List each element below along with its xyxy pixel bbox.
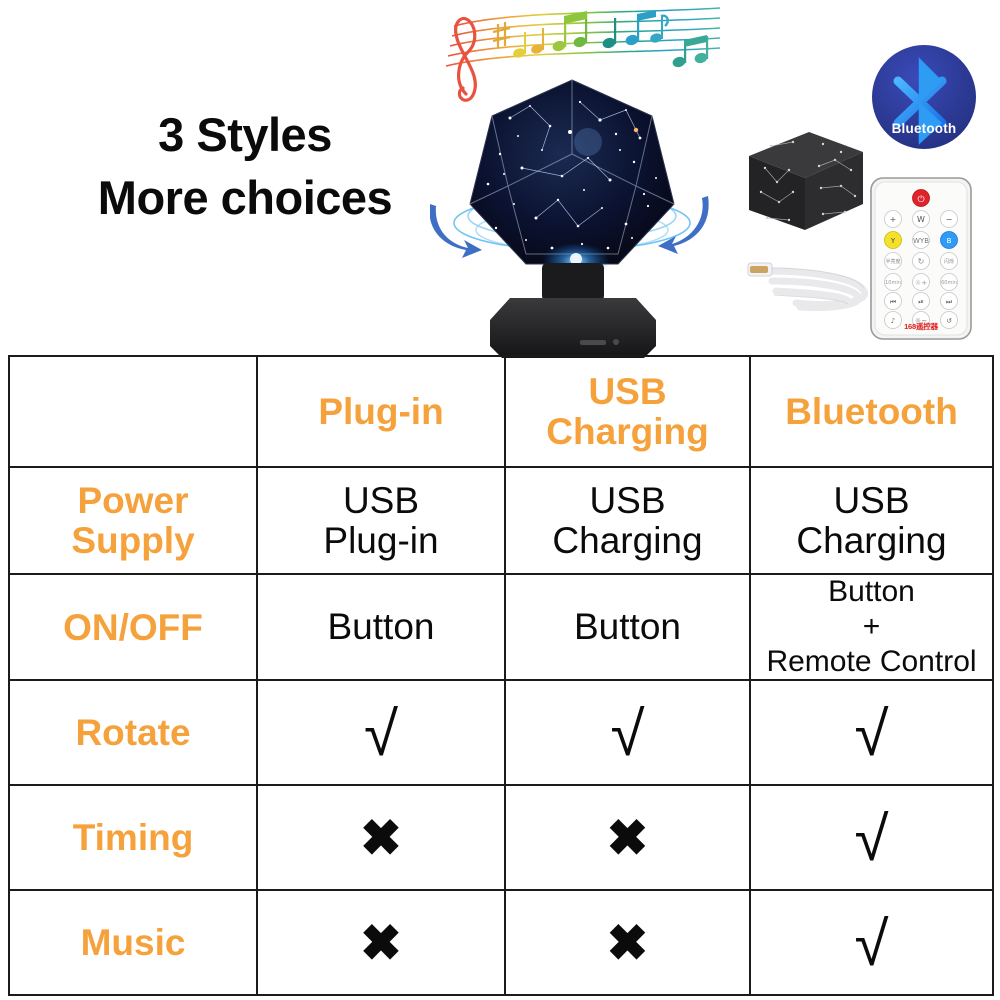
cell-timing-usb-charging: ✖	[505, 785, 750, 890]
page-title: 3 Styles More choices	[55, 104, 435, 229]
bluetooth-label: Bluetooth	[864, 121, 984, 136]
star-projector-lamp	[430, 58, 715, 358]
table-row-power-supply: Power Supply USB Plug-in USB Charging US…	[9, 467, 993, 574]
remote-model-label: 168遥控器	[867, 321, 975, 332]
svg-text:半亮度: 半亮度	[885, 258, 900, 265]
svg-text:⏯: ⏯	[918, 298, 924, 306]
svg-text:W: W	[917, 215, 925, 224]
row-label-rotate: Rotate	[9, 680, 257, 785]
cell-timing-plug-in: ✖	[257, 785, 505, 890]
svg-text:−: −	[946, 215, 953, 224]
cross-icon: ✖	[360, 918, 402, 968]
svg-text:⏻: ⏻	[917, 194, 924, 205]
header-cell-blank	[9, 356, 257, 467]
check-icon: √	[364, 704, 398, 766]
remote-control: ⏻ +W− Y WYB B 半亮度 ↻ 闪	[867, 176, 975, 341]
svg-text:⏮: ⏮	[890, 298, 896, 306]
svg-text:10min: 10min	[885, 280, 901, 286]
check-icon: √	[854, 704, 888, 766]
table-row-music: Music ✖ ✖ √	[9, 890, 993, 995]
bluetooth-icon	[864, 40, 984, 158]
cell-music-usb-charging: ✖	[505, 890, 750, 995]
cell-on-off-plug-in: Button	[257, 574, 505, 680]
table-row-timing: Timing ✖ ✖ √	[9, 785, 993, 890]
check-icon: √	[610, 704, 644, 766]
headline-line-1: 3 Styles	[55, 104, 435, 167]
svg-text:↻: ↻	[918, 257, 925, 266]
svg-text:WYB: WYB	[913, 237, 929, 245]
cell-rotate-bluetooth: √	[750, 680, 993, 785]
cell-on-off-usb-charging: Button	[505, 574, 750, 680]
cell-rotate-plug-in: √	[257, 680, 505, 785]
svg-text:⏭: ⏭	[946, 298, 953, 306]
header-cell-usb-charging: USB Charging	[505, 356, 750, 467]
svg-text:+: +	[890, 215, 897, 224]
cell-rotate-usb-charging: √	[505, 680, 750, 785]
bluetooth-badge: Bluetooth	[864, 40, 984, 158]
svg-text:B: B	[947, 237, 952, 245]
cell-power-supply-bluetooth: USB Charging	[750, 467, 993, 574]
table-header-row: Plug-in USB Charging Bluetooth	[9, 356, 993, 467]
header-cell-bluetooth: Bluetooth	[750, 356, 993, 467]
cell-power-supply-usb-charging: USB Charging	[505, 467, 750, 574]
svg-text:60min: 60min	[941, 280, 957, 286]
svg-text:闪烁: 闪烁	[944, 258, 954, 265]
headline-line-2: More choices	[55, 167, 435, 230]
comparison-table: Plug-in USB Charging Bluetooth Power Sup…	[8, 355, 994, 996]
cross-icon: ✖	[360, 813, 402, 863]
usb-cable	[738, 243, 883, 328]
svg-text:Y: Y	[890, 237, 896, 245]
table-row-on-off: ON/OFF Button Button Button + Remote Con…	[9, 574, 993, 680]
svg-text:☼+: ☼+	[915, 279, 927, 287]
row-label-on-off: ON/OFF	[9, 574, 257, 680]
cell-music-bluetooth: √	[750, 890, 993, 995]
cell-music-plug-in: ✖	[257, 890, 505, 995]
hero-banner: 3 Styles More choices	[0, 0, 1000, 355]
check-icon: √	[854, 809, 888, 871]
table-row-rotate: Rotate √ √ √	[9, 680, 993, 785]
row-label-timing: Timing	[9, 785, 257, 890]
header-cell-plug-in: Plug-in	[257, 356, 505, 467]
constellation-gift-box	[731, 126, 871, 241]
cross-icon: ✖	[607, 918, 649, 968]
row-label-music: Music	[9, 890, 257, 995]
cell-on-off-bluetooth: Button + Remote Control	[750, 574, 993, 680]
cell-timing-bluetooth: √	[750, 785, 993, 890]
cell-power-supply-plug-in: USB Plug-in	[257, 467, 505, 574]
check-icon: √	[854, 914, 888, 976]
cross-icon: ✖	[607, 813, 649, 863]
row-label-power-supply: Power Supply	[9, 467, 257, 574]
